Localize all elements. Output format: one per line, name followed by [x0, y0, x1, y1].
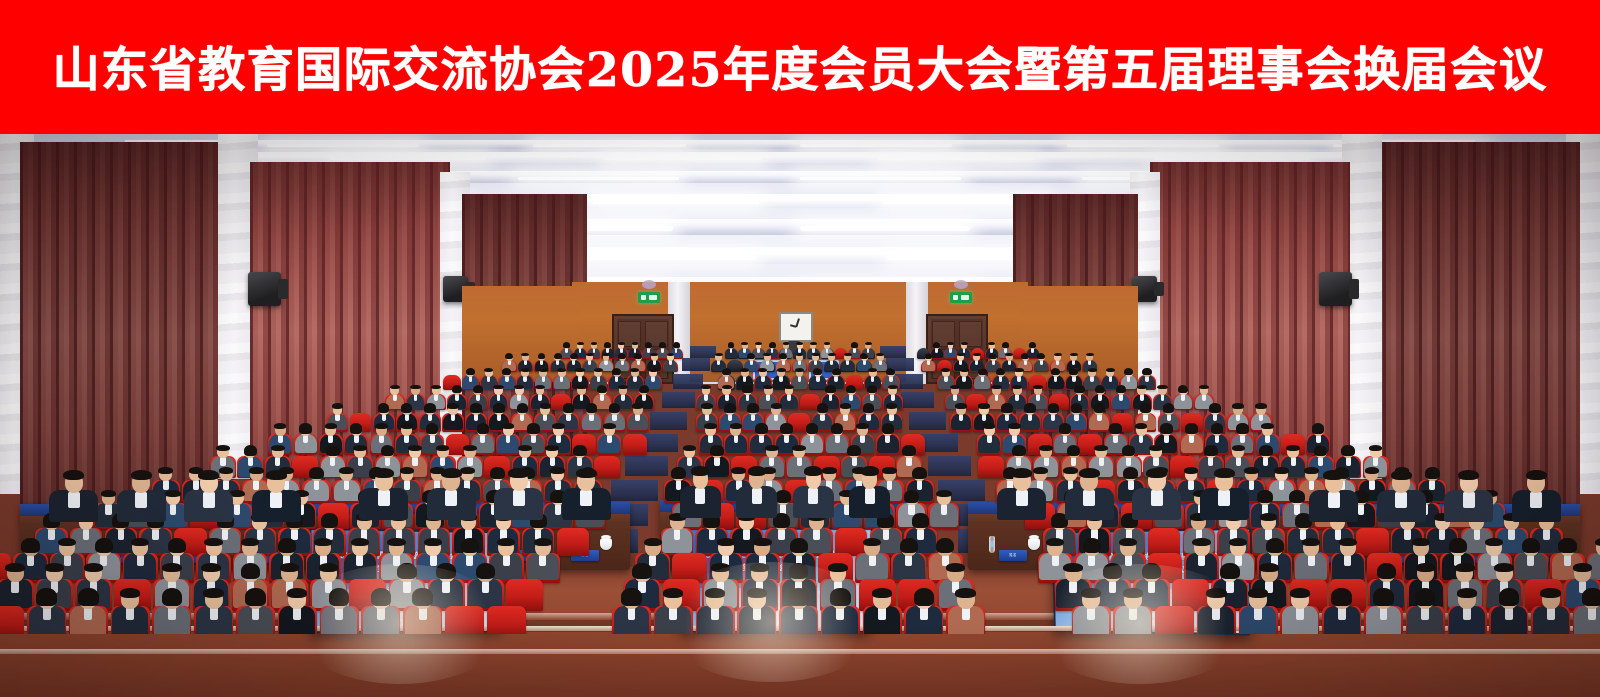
audience-member [663, 352, 678, 371]
person-hair [201, 563, 220, 572]
person-collar [252, 607, 260, 620]
person-hair [319, 563, 338, 572]
audience-member [1111, 383, 1131, 408]
person-collar [1527, 555, 1534, 567]
person-collar [746, 394, 750, 401]
person-hair [722, 368, 731, 376]
audience-member [725, 341, 738, 358]
person-collar [1189, 435, 1194, 443]
person-hair [989, 353, 997, 360]
person-hair [502, 423, 514, 429]
person-collar [1181, 394, 1185, 401]
person-hair [1037, 353, 1045, 360]
person-hair [872, 588, 892, 598]
person-collar [941, 504, 947, 514]
person-hair [1070, 353, 1078, 357]
person-hair [1449, 538, 1467, 554]
audience-member [236, 586, 275, 634]
person-hair [131, 538, 149, 547]
person-hair [401, 403, 412, 413]
person-collar [1145, 376, 1148, 382]
person-hair [1014, 368, 1023, 372]
person-hair [299, 423, 311, 434]
person-collar [1505, 607, 1513, 620]
person-hair [840, 403, 851, 408]
person-hair [1415, 588, 1435, 606]
person-hair [1021, 353, 1029, 360]
person-collar [43, 607, 51, 620]
person-hair [1011, 468, 1032, 478]
person-hair [577, 342, 584, 345]
person-collar [503, 555, 510, 567]
person-collar [1017, 376, 1020, 382]
person-hair [1266, 538, 1284, 554]
person-hair [84, 563, 103, 572]
person-collar [344, 480, 350, 490]
person-collar [944, 376, 947, 382]
person-hair [1088, 368, 1097, 372]
person-hair [45, 563, 64, 572]
person-hair [1095, 385, 1105, 394]
person-hair [645, 342, 652, 348]
person-hair [1024, 403, 1035, 413]
person-collar [455, 394, 459, 401]
audience-member [904, 586, 943, 634]
person-collar [1056, 360, 1059, 365]
person-collar [653, 360, 656, 365]
audience-member [654, 586, 693, 634]
person-collar [816, 376, 819, 382]
person-collar [1167, 414, 1171, 421]
person-collar [628, 607, 636, 620]
person-collar [538, 394, 542, 401]
person-hair [825, 385, 835, 394]
person-hair [1425, 467, 1440, 480]
person-collar [1547, 607, 1555, 620]
person-collar [725, 394, 729, 401]
person-hair [287, 588, 307, 598]
person-hair [1001, 403, 1012, 413]
audience-member [526, 535, 561, 579]
person-hair [649, 368, 658, 372]
person-hair [1377, 563, 1396, 580]
person-hair [1260, 513, 1277, 521]
person-hair [326, 445, 340, 457]
person-hair [851, 342, 858, 348]
person-collar [891, 394, 895, 401]
person-collar [695, 488, 705, 504]
person-collar [637, 360, 640, 365]
person-collar [597, 376, 600, 382]
person-hair [505, 353, 513, 360]
person-hair [861, 466, 879, 476]
person-hair [604, 342, 611, 348]
person-collar [1097, 414, 1101, 421]
vip-head-table-member [1132, 466, 1181, 518]
person-collar [1016, 490, 1028, 506]
person-collar [1074, 414, 1078, 421]
person-collar [203, 492, 215, 508]
person-hair [1086, 353, 1094, 357]
person-hair [1012, 445, 1026, 457]
person-hair [867, 385, 877, 394]
person-hair [868, 368, 877, 372]
person-hair [576, 468, 597, 478]
person-collar [705, 414, 709, 421]
audience-member [1573, 586, 1600, 634]
person-collar [335, 414, 339, 421]
person-hair [831, 423, 843, 434]
person-collar [743, 376, 746, 382]
vip-head-table-member [736, 464, 777, 516]
person-hair [1029, 342, 1036, 348]
person-hair [461, 538, 479, 554]
table-nameplate: 姓名 [999, 550, 1027, 561]
person-hair [747, 353, 755, 360]
person-hair [1339, 538, 1357, 547]
person-hair [740, 368, 749, 372]
person-hair [933, 342, 940, 348]
person-hair [609, 403, 620, 413]
person-collar [953, 394, 957, 401]
person-hair [1595, 538, 1600, 547]
person-collar [633, 376, 636, 382]
person-collar [270, 492, 282, 508]
person-hair [401, 423, 413, 429]
auditorium-seat [1148, 528, 1181, 556]
person-hair [863, 403, 874, 413]
person-hair [1369, 445, 1383, 451]
person-hair [397, 563, 416, 580]
person-hair [769, 342, 776, 348]
audience-member [855, 535, 890, 579]
audience-member [821, 586, 860, 634]
audience-member [1489, 586, 1528, 634]
audience-member [343, 535, 378, 579]
person-collar [878, 607, 886, 620]
person-collar [766, 360, 769, 365]
person-hair [1274, 467, 1289, 474]
person-hair [701, 403, 712, 408]
person-hair [412, 588, 432, 606]
person-hair [353, 445, 367, 451]
person-hair [1069, 368, 1078, 376]
person-hair [1079, 468, 1100, 478]
person-hair [576, 385, 586, 390]
person-hair [373, 468, 394, 478]
person-collar [556, 360, 559, 365]
person-hair [1067, 445, 1081, 457]
person-hair [539, 368, 548, 372]
person-hair [860, 353, 868, 360]
person-hair [466, 368, 475, 376]
person-collar [607, 435, 612, 443]
person-hair [659, 342, 666, 348]
person-collar [469, 376, 472, 382]
person-hair [705, 588, 725, 598]
person-collar [497, 394, 501, 401]
person-hair [1094, 445, 1108, 451]
person-hair [1261, 423, 1273, 429]
person-hair [758, 368, 767, 372]
vip-head-table-member [1377, 468, 1426, 520]
person-hair [563, 342, 570, 348]
person-collar [487, 376, 490, 382]
person-collar [1008, 360, 1011, 365]
person-collar [995, 394, 999, 401]
person-hair [63, 470, 84, 480]
person-collar [1308, 555, 1315, 567]
person-collar [982, 414, 986, 421]
person-hair [1526, 470, 1547, 480]
person-collar [382, 414, 386, 421]
person-hair [1063, 563, 1082, 572]
person-collar [523, 376, 526, 382]
person-hair [1248, 588, 1268, 598]
person-hair [846, 385, 856, 394]
person-hair [162, 563, 181, 572]
person-collar [434, 394, 438, 401]
person-hair [241, 563, 260, 580]
person-collar [580, 394, 584, 401]
person-hair [1341, 445, 1355, 457]
person-hair [1142, 368, 1151, 376]
person-hair [711, 563, 730, 572]
person-hair [1051, 368, 1060, 376]
person-collar [750, 360, 753, 365]
person-hair [1116, 385, 1126, 394]
person-hair [563, 403, 574, 413]
person-hair [1455, 563, 1474, 572]
person-collar [405, 414, 409, 421]
person-hair [612, 368, 621, 376]
person-collar [1015, 394, 1019, 401]
person-collar [752, 488, 762, 504]
person-collar [635, 414, 639, 421]
audience-member [891, 535, 926, 579]
person-collar [1090, 376, 1093, 382]
person-hair [902, 445, 916, 457]
person-hair [806, 423, 818, 434]
person-collar [445, 490, 457, 506]
person-hair [1255, 403, 1266, 408]
person-collar [84, 607, 92, 620]
person-collar [753, 607, 761, 620]
person-hair [447, 403, 458, 408]
person-collar [1129, 607, 1137, 620]
person-collar [1024, 360, 1027, 365]
person-hair [828, 563, 847, 572]
person-hair [771, 403, 782, 408]
vip-head-table-member [184, 468, 233, 520]
person-hair [1416, 563, 1435, 572]
person-hair [983, 423, 995, 429]
person-hair [1259, 445, 1273, 457]
person-collar [787, 394, 791, 401]
person-collar [866, 414, 870, 421]
person-hair [1206, 588, 1226, 598]
person-hair [753, 538, 771, 547]
person-hair [1140, 403, 1151, 413]
person-hair [1232, 445, 1246, 451]
audience-member [863, 586, 902, 634]
person-hair [644, 538, 662, 547]
audience-member [294, 422, 318, 452]
person-collar [451, 414, 455, 421]
person-collar [1530, 492, 1542, 508]
person-collar [669, 607, 677, 620]
person-hair [1494, 563, 1513, 572]
person-collar [1208, 457, 1213, 466]
person-hair [936, 490, 952, 497]
person-collar [814, 360, 817, 365]
person-hair [473, 385, 483, 394]
person-hair [545, 445, 559, 451]
person-hair [1122, 445, 1136, 457]
person-collar [1087, 607, 1095, 620]
auditorium-seat [623, 434, 647, 454]
person-hair [991, 385, 1001, 390]
audience-member [278, 586, 317, 634]
person-hair [586, 353, 594, 357]
person-collar [1202, 394, 1206, 401]
person-hair [1257, 490, 1273, 504]
person-collar [870, 394, 874, 401]
person-hair [216, 445, 230, 451]
person-hair [309, 467, 324, 480]
person-hair [792, 445, 806, 451]
person-collar [168, 607, 176, 620]
person-collar [734, 435, 739, 443]
audience-member [553, 366, 570, 388]
event-title-text: 山东省教育国际交流协会2025年度会员大会暨第五届理事会换届会议 [53, 47, 1548, 94]
person-collar [377, 607, 385, 620]
person-collar [615, 376, 618, 382]
person-hair [540, 403, 551, 408]
person-collar [728, 414, 732, 421]
person-hair [339, 467, 354, 474]
vip-head-table-member [1065, 466, 1114, 518]
person-collar [782, 360, 785, 365]
person-hair [632, 563, 651, 580]
audience-member [403, 586, 442, 634]
person-hair [332, 403, 343, 408]
person-hair [810, 342, 817, 345]
person-hair [621, 588, 641, 606]
person-hair [886, 403, 897, 408]
person-hair [1232, 403, 1243, 408]
audience-member [442, 402, 464, 430]
person-collar [68, 492, 80, 508]
person-collar [766, 394, 770, 401]
audience-member [946, 586, 985, 634]
person-hair [452, 385, 462, 394]
audience-member [27, 586, 66, 634]
person-collar [1463, 607, 1471, 620]
person-collar [905, 555, 912, 567]
vip-head-table-member [680, 464, 721, 516]
person-collar [442, 581, 449, 593]
audience-member [1072, 586, 1111, 634]
person-hair [639, 385, 649, 394]
person-hair [1106, 368, 1115, 372]
person-hair [517, 403, 528, 413]
person-hair [618, 353, 626, 360]
person-collar [126, 607, 134, 620]
person-hair [779, 353, 787, 360]
audience-member [1322, 586, 1361, 634]
vip-head-table-member [997, 466, 1046, 518]
person-hair [408, 445, 422, 451]
person-hair [1074, 385, 1084, 394]
person-collar [999, 376, 1002, 382]
person-hair [244, 445, 258, 457]
person-hair [527, 423, 539, 434]
person-hair [788, 588, 808, 606]
person-collar [580, 490, 592, 506]
person-hair [325, 423, 337, 429]
person-collar [869, 555, 876, 567]
person-collar [621, 394, 625, 401]
auditorium-seat [1155, 606, 1194, 634]
person-hair [168, 538, 186, 554]
person-collar [843, 414, 847, 421]
person-collar [1040, 360, 1043, 365]
person-collar [1395, 492, 1407, 508]
person-hair [1259, 563, 1278, 572]
person-hair [597, 385, 607, 394]
person-hair [463, 445, 477, 451]
person-hair [1039, 445, 1053, 451]
person-hair [1185, 423, 1197, 434]
person-hair [634, 353, 642, 360]
person-hair [1582, 588, 1600, 606]
person-collar [798, 360, 801, 365]
person-collar [335, 607, 343, 620]
person-collar [889, 376, 892, 382]
person-collar [1072, 376, 1075, 382]
person-collar [210, 607, 218, 620]
person-hair [730, 423, 742, 429]
person-hair [1458, 470, 1479, 480]
person-hair [914, 588, 934, 606]
person-hair [484, 368, 493, 372]
person-hair [828, 353, 836, 357]
person-hair [1412, 538, 1430, 547]
audience-member [977, 422, 1001, 452]
person-collar [798, 376, 801, 382]
person-hair [1540, 588, 1560, 598]
person-hair [856, 423, 868, 429]
person-hair [476, 563, 495, 580]
person-hair [477, 423, 489, 434]
person-hair [812, 353, 820, 357]
person-collar [419, 607, 427, 620]
person-collar [1212, 607, 1220, 620]
person-hair [603, 423, 615, 429]
audience-member [1239, 586, 1278, 634]
person-collar [578, 376, 581, 382]
nameplate-text: 姓名 [999, 550, 1027, 561]
person-collar [889, 414, 893, 421]
person-hair [795, 368, 804, 372]
vip-head-table-member [252, 468, 301, 520]
person-collar [829, 394, 833, 401]
person-collar [992, 360, 995, 365]
person-hair [710, 445, 724, 457]
person-hair [941, 368, 950, 372]
person-hair [1290, 588, 1310, 598]
